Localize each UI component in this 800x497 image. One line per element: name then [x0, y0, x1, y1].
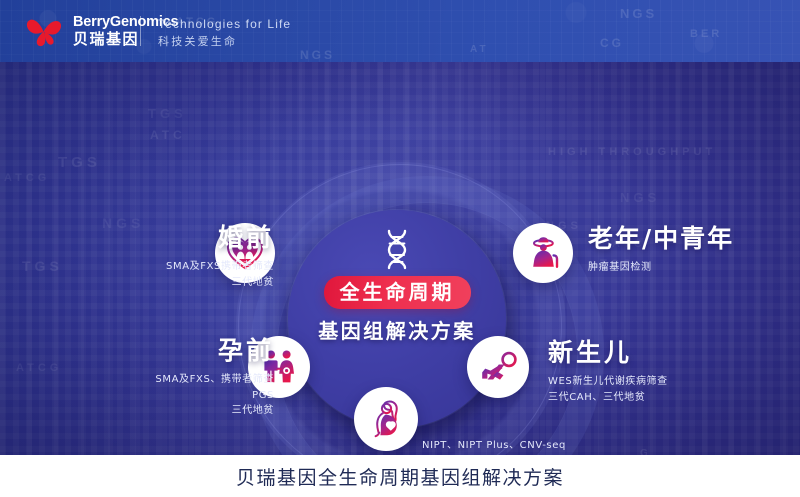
elderly-person-icon — [525, 235, 561, 271]
header-divider — [140, 16, 141, 46]
background-watermark: TGS — [22, 258, 63, 274]
stage-label-yunqi: 孕期 NIPT、NIPT Plus、CNV-seq SMA及FXS携带者筛查 叶… — [356, 438, 586, 455]
stage-label-yunqian: 孕前 SMA及FXS、携带者筛查 PGS 三代地贫 — [72, 338, 274, 419]
stage-line: 三代地贫 — [72, 403, 274, 419]
stage-lines-xinshenger: WES新生儿代谢疾病筛查 三代CAH、三代地贫 — [548, 374, 798, 405]
figure-caption-bar: 贝瑞基因全生命周期基因组解决方案 — [0, 455, 800, 497]
stage-title-hunqian: 婚前 — [74, 225, 274, 250]
main-artboard: TGSTGSATCNGSTGSATCGHIGH THROUGHPUTNGSNGS… — [0, 62, 800, 455]
stage-line: WES新生儿代谢疾病筛查 — [548, 374, 798, 390]
stage-line: PGS — [72, 388, 274, 404]
brand-logo[interactable]: BerryGenomics 贝瑞基因 — [24, 14, 178, 48]
stage-label-hunqian: 婚前 SMA及FXS携带者筛查 三代地贫 — [74, 225, 274, 290]
stage-node-laonian[interactable] — [513, 223, 573, 283]
stage-title-yunqi: 孕期 — [356, 438, 412, 455]
header-bar: NGS BER CG ATCG AT NGS BerryGenomics 贝瑞基… — [0, 0, 800, 62]
stage-line: SMA及FXS携带者筛查 — [74, 259, 274, 275]
figure-caption-text: 贝瑞基因全生命周期基因组解决方案 — [236, 463, 564, 490]
brand-slogan: Technologies for Life 科技关爱生命 — [158, 18, 291, 48]
header-watermark-ngs: NGS — [620, 6, 657, 21]
stage-line: NIPT、NIPT Plus、CNV-seq — [422, 438, 566, 454]
stage-title-yunqian: 孕前 — [72, 338, 274, 363]
background-watermark: ATC — [150, 128, 186, 142]
background-watermark: ATCG — [16, 362, 62, 374]
solution-subtitle: 基因组解决方案 — [318, 321, 476, 341]
stage-title-xinshenger: 新生儿 — [548, 340, 798, 365]
pregnant-woman-icon — [367, 399, 405, 439]
header-watermark-at: AT — [470, 44, 489, 55]
stage-lines-yunqian: SMA及FXS、携带者筛查 PGS 三代地贫 — [72, 372, 274, 419]
stage-label-laonian: 老年/中青年 肿瘤基因检测 — [588, 226, 798, 276]
butterfly-logo-icon — [24, 14, 64, 48]
slogan-cn: 科技关爱生命 — [158, 37, 291, 48]
stage-node-xinshenger[interactable] — [467, 336, 529, 398]
header-watermark-ngs-lower: NGS — [300, 48, 335, 62]
header-watermark-cg: CG — [600, 36, 624, 50]
stage-label-xinshenger: 新生儿 WES新生儿代谢疾病筛查 三代CAH、三代地贫 — [548, 340, 798, 405]
background-watermark: NGS — [620, 190, 660, 205]
poster-canvas: NGS BER CG ATCG AT NGS BerryGenomics 贝瑞基… — [0, 0, 800, 497]
header-watermark-ber: BER — [690, 28, 722, 40]
stage-line: 三代CAH、三代地贫 — [548, 390, 798, 406]
background-watermark: TGS — [58, 154, 101, 171]
lifecycle-pill-label: 全生命周期 — [324, 276, 471, 309]
slogan-en: Technologies for Life — [158, 18, 291, 30]
background-watermark: ATCG — [4, 172, 50, 184]
background-watermark: TGS — [148, 106, 187, 121]
dna-helix-icon — [379, 228, 415, 270]
background-watermark: G — [640, 448, 652, 455]
background-watermark: HIGH THROUGHPUT — [548, 146, 716, 158]
stage-lines-laonian: 肿瘤基因检测 — [588, 260, 798, 276]
baby-icon — [478, 350, 518, 384]
stage-line: 三代地贫 — [74, 275, 274, 291]
stage-line: 肿瘤基因检测 — [588, 260, 798, 276]
stage-title-laonian: 老年/中青年 — [588, 226, 798, 251]
stage-lines-hunqian: SMA及FXS携带者筛查 三代地贫 — [74, 259, 274, 290]
stage-line: SMA及FXS、携带者筛查 — [72, 372, 274, 388]
stage-lines-yunqi: NIPT、NIPT Plus、CNV-seq SMA及FXS携带者筛查 叶酸代谢… — [422, 438, 566, 455]
